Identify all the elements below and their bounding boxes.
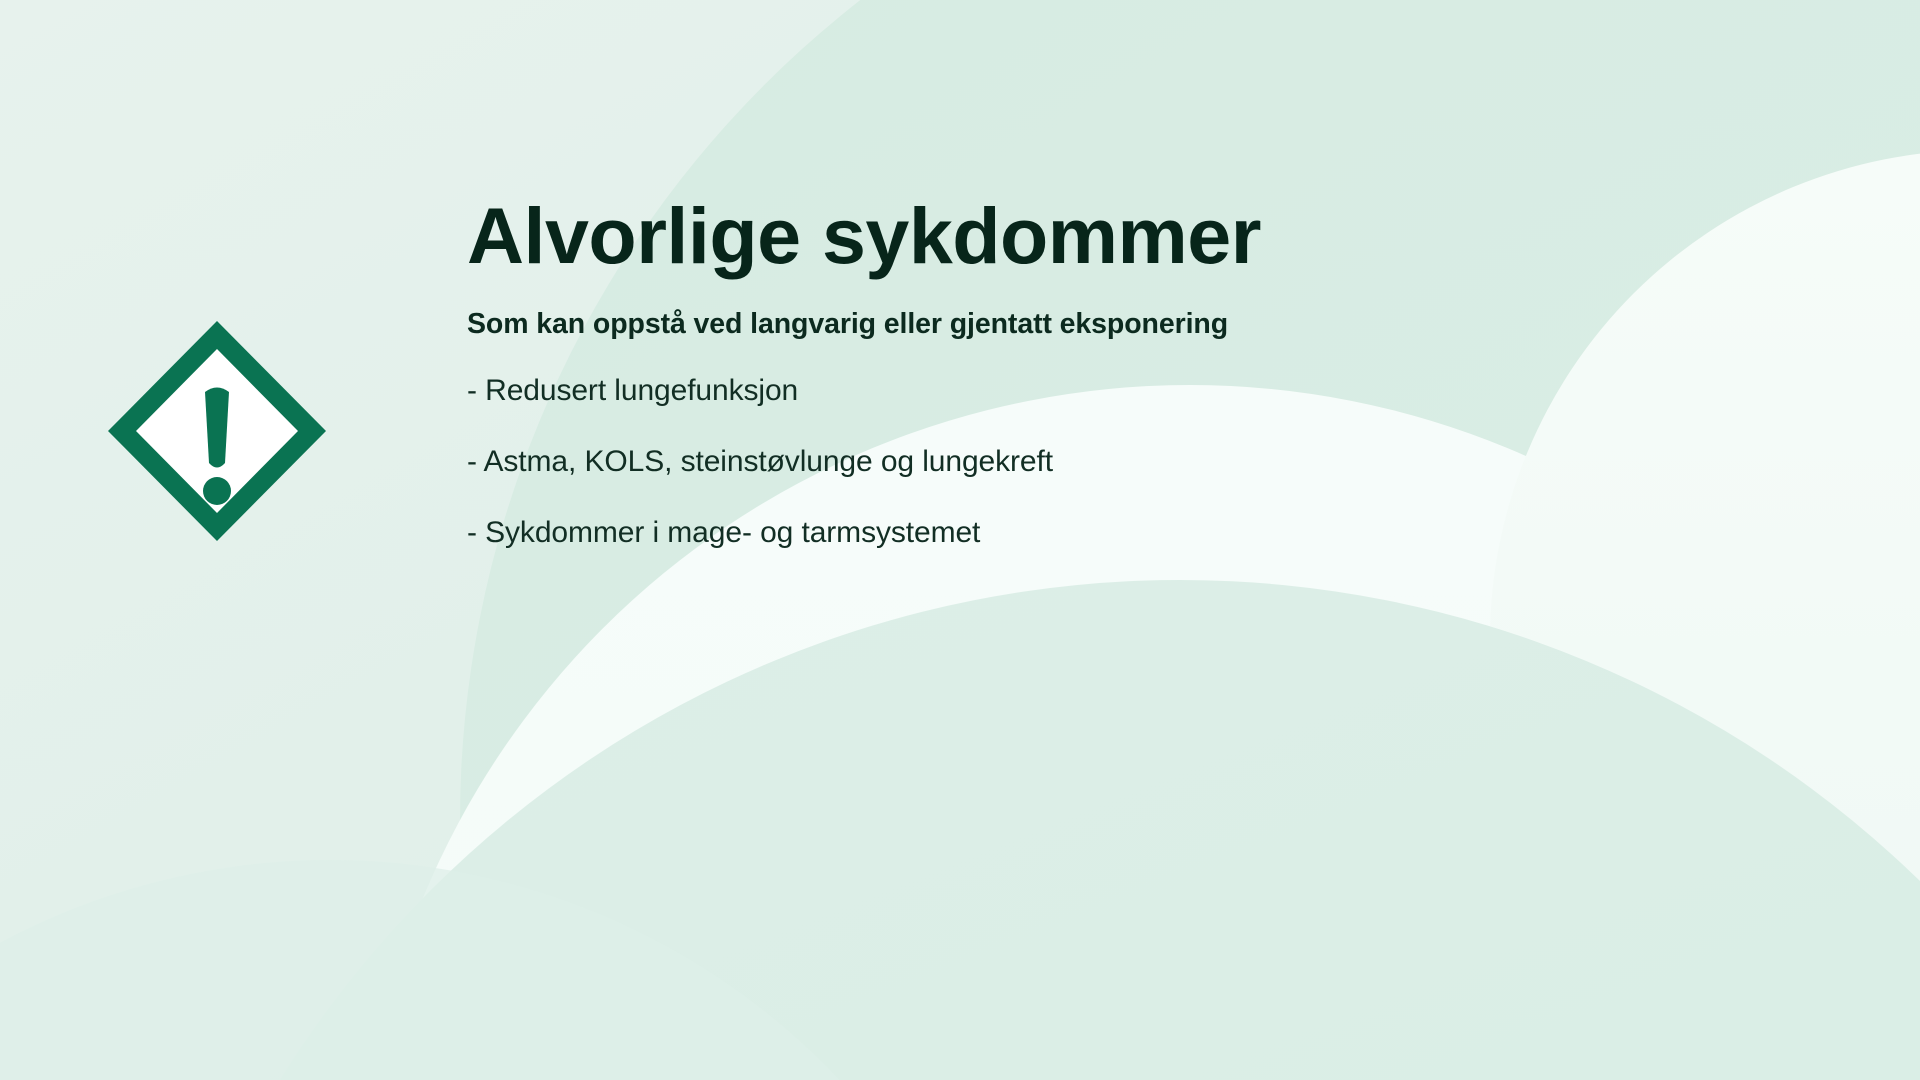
warning-diamond-exclamation-icon: [104, 317, 330, 545]
bullet-list: - Redusert lungefunksjon - Astma, KOLS, …: [467, 373, 1617, 551]
slide-content: Alvorlige sykdommer Som kan oppstå ved l…: [467, 196, 1617, 551]
exclamation-stem: [205, 388, 229, 468]
exclamation-dot: [203, 477, 231, 505]
bullet-item-1: - Redusert lungefunksjon: [467, 373, 1617, 409]
bullet-item-3: - Sykdommer i mage- og tarmsystemet: [467, 515, 1617, 551]
slide-canvas: Alvorlige sykdommer Som kan oppstå ved l…: [0, 0, 1920, 1080]
bullet-item-2: - Astma, KOLS, steinstøvlunge og lungekr…: [467, 444, 1617, 480]
page-title: Alvorlige sykdommer: [467, 196, 1617, 277]
slide-subtitle: Som kan oppstå ved langvarig eller gjent…: [467, 307, 1617, 341]
warning-diamond-icon: [104, 317, 330, 545]
